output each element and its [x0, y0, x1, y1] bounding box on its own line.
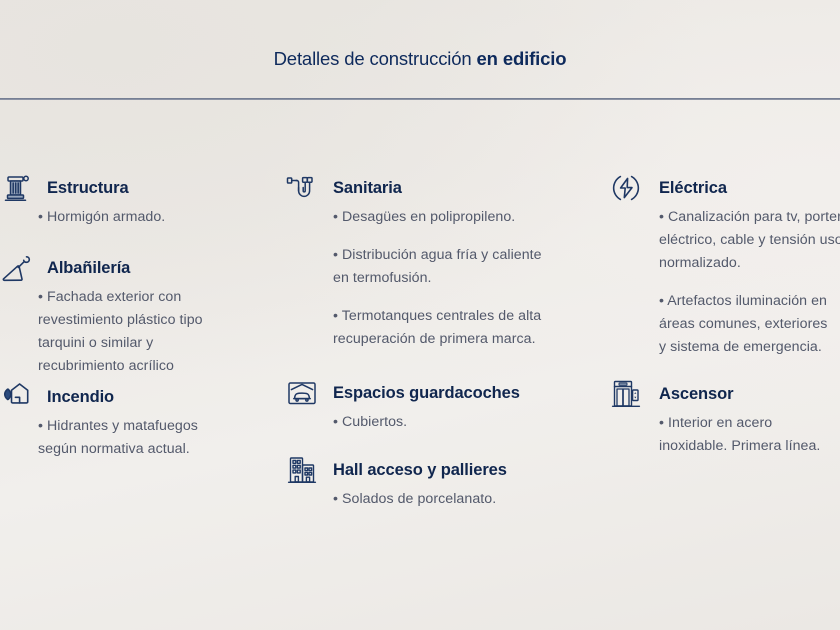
block-title: Espacios guardacoches	[333, 376, 520, 410]
bullet-item: • Cubiertos.	[333, 411, 520, 434]
block-bullets: • Hidrantes y matafuegos según normativa…	[38, 415, 198, 461]
block-header: Hall acceso y pallieres	[285, 453, 507, 487]
feature-block-incendio: Incendio • Hidrantes y matafuegos según …	[0, 380, 198, 461]
block-header: Incendio	[0, 380, 198, 414]
block-bullets: • Canalización para tv, portero eléctric…	[659, 206, 840, 359]
block-bullets: • Fachada exterior con revestimiento plá…	[38, 286, 203, 378]
bullet-item: • Fachada exterior con revestimiento plá…	[38, 286, 203, 378]
bullet-item: • Distribución agua fría y caliente en t…	[333, 244, 542, 290]
feature-block-ascensor: Ascensor • Interior en acero inoxidable.…	[605, 377, 820, 458]
pipe-trap-icon	[285, 171, 319, 205]
column-pillar-icon	[0, 171, 34, 205]
bullet-item: • Hormigón armado.	[38, 206, 165, 229]
feature-columns: Estructura • Hormigón armado. Albañi	[0, 99, 840, 630]
feature-block-estructura: Estructura • Hormigón armado.	[0, 171, 165, 229]
page-title-regular: Detalles de construcción	[274, 48, 477, 69]
block-header: Estructura	[0, 171, 165, 205]
block-bullets: • Hormigón armado.	[38, 206, 165, 229]
bullet-item: • Termotanques centrales de alta recuper…	[333, 305, 542, 351]
block-bullets: • Cubiertos.	[333, 411, 520, 434]
trowel-icon	[0, 251, 34, 285]
block-header: Sanitaria	[285, 171, 542, 205]
block-header: Eléctrica	[605, 171, 840, 205]
block-title: Sanitaria	[333, 171, 542, 205]
block-title: Hall acceso y pallieres	[333, 453, 507, 487]
page-header: Detalles de construcción en edificio	[0, 0, 840, 99]
bullet-item: • Interior en acero inoxidable. Primera …	[659, 412, 820, 458]
block-bullets: • Interior en acero inoxidable. Primera …	[659, 412, 820, 458]
block-header: Albañilería	[0, 251, 203, 285]
bullet-item: • Hidrantes y matafuegos según normativa…	[38, 415, 198, 461]
feature-block-electrica: Eléctrica • Canalización para tv, porter…	[605, 171, 840, 359]
bullet-item: • Canalización para tv, portero eléctric…	[659, 206, 840, 275]
feature-block-albanileria: Albañilería • Fachada exterior con reves…	[0, 251, 203, 378]
house-fire-icon	[0, 380, 34, 414]
page-title-bold: en edificio	[477, 48, 567, 69]
block-header: Ascensor	[605, 377, 820, 411]
feature-block-sanitaria: Sanitaria • Desagües en polipropileno. •…	[285, 171, 542, 351]
block-bullets: • Desagües en polipropileno. • Distribuc…	[333, 206, 542, 351]
building-icon	[285, 453, 319, 487]
construction-details-page: Detalles de construcción en edificio	[0, 0, 840, 630]
bullet-item: • Artefactos iluminación en áreas comune…	[659, 290, 840, 359]
page-title: Detalles de construcción en edificio	[0, 46, 840, 72]
block-bullets: • Solados de porcelanato.	[333, 488, 507, 511]
block-title: Eléctrica	[659, 171, 840, 205]
bullet-item: • Solados de porcelanato.	[333, 488, 507, 511]
block-title: Ascensor	[659, 377, 820, 411]
feature-block-guardacoches: Espacios guardacoches • Cubiertos.	[285, 376, 520, 434]
bullet-item: • Desagües en polipropileno.	[333, 206, 542, 229]
elevator-icon	[609, 377, 643, 411]
block-header: Espacios guardacoches	[285, 376, 520, 410]
block-title: Incendio	[47, 380, 198, 414]
garage-car-icon	[285, 376, 319, 410]
block-title: Estructura	[47, 171, 165, 205]
block-title: Albañilería	[47, 251, 203, 285]
lightning-circle-icon	[609, 171, 643, 205]
feature-block-hall-acceso: Hall acceso y pallieres • Solados de por…	[285, 453, 507, 511]
